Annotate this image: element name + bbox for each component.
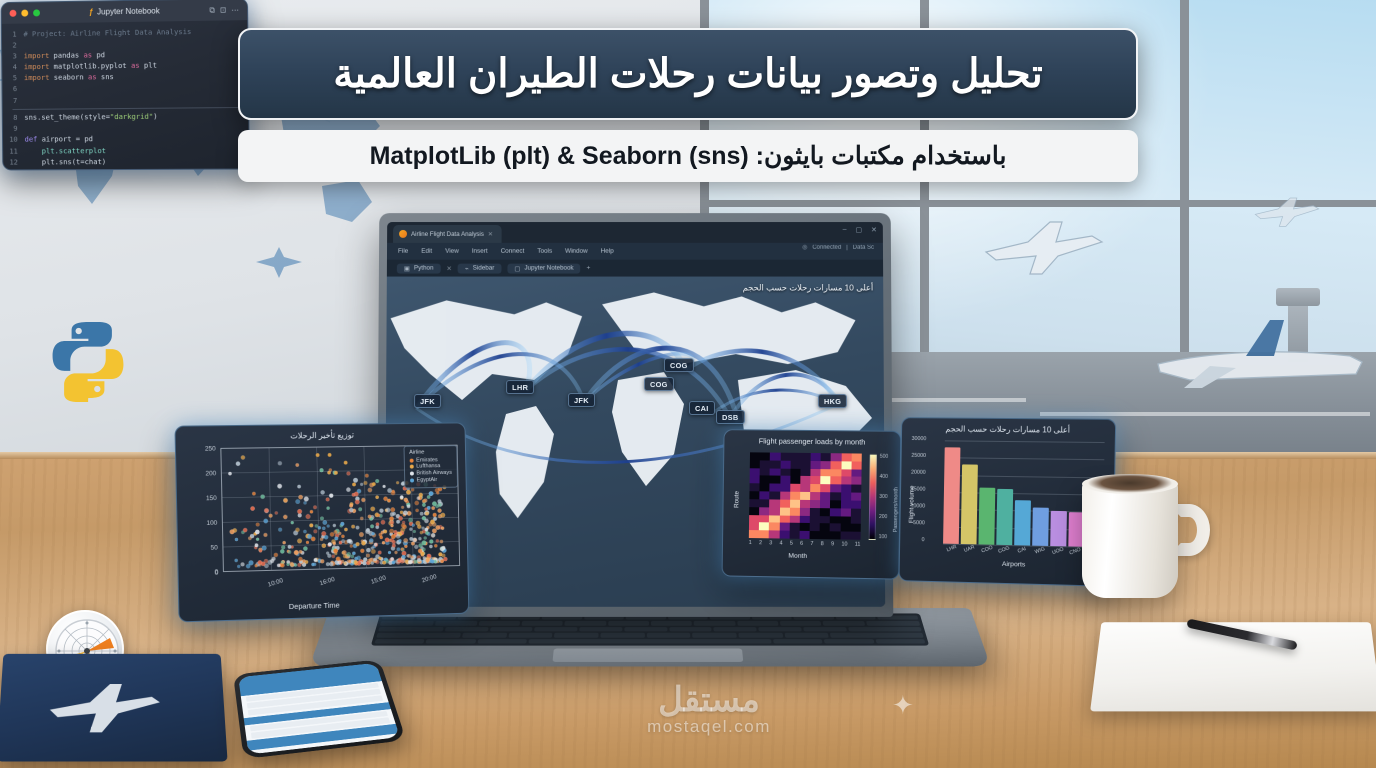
blue-notebook xyxy=(0,654,228,762)
heatmap-cell xyxy=(780,492,790,500)
close-tab-icon[interactable]: ✕ xyxy=(446,264,451,272)
heatmap-cell xyxy=(830,500,840,508)
heatmap-xtick: 8 xyxy=(821,541,824,547)
heatmap-cell xyxy=(800,500,810,508)
svg-text:50: 50 xyxy=(211,544,219,551)
bar-ytick: 20000 xyxy=(911,470,926,476)
heatmap-cell xyxy=(831,477,841,485)
jupyter-icon: ƒ xyxy=(89,8,94,17)
heatmap-cell xyxy=(790,492,800,500)
heatmap-cell xyxy=(760,452,770,460)
heatmap-cell xyxy=(800,523,810,531)
airport-chip-cai[interactable]: CAI xyxy=(689,401,715,415)
menu-connect[interactable]: Connect xyxy=(501,248,525,255)
heatmap-cell xyxy=(750,460,760,468)
heatmap-cell xyxy=(830,531,840,539)
legend-label: Lufthansa xyxy=(416,463,440,469)
legend-label: Emirates xyxy=(416,457,438,463)
svg-text:20:00: 20:00 xyxy=(421,573,438,584)
legend-color-swatch xyxy=(409,465,413,469)
heatmap-cell xyxy=(780,460,790,468)
heatmap-xtick: 7 xyxy=(810,541,813,547)
bar-xtick: UOO xyxy=(1048,545,1067,557)
heatmap-cell xyxy=(750,468,760,476)
map-title: أعلى 10 مسارات رحلات حسب الحجم xyxy=(743,283,874,293)
laptop-keyboard[interactable] xyxy=(371,613,929,645)
airport-chip-jfk[interactable]: JFK xyxy=(414,394,441,408)
code-cell-divider xyxy=(12,107,237,110)
svg-text:250: 250 xyxy=(205,446,216,453)
legend-item[interactable]: EgyptAir xyxy=(410,477,452,484)
heatmap-cell xyxy=(820,523,830,531)
heatmap-cell xyxy=(750,476,760,484)
heatmap-cell xyxy=(779,523,789,531)
heatmap-cell xyxy=(810,531,820,539)
scatter-legend: Airline Emirates Lufthansa British Airwa… xyxy=(403,445,458,488)
colorbar-tick: 400 xyxy=(880,474,888,480)
code-window-title: Jupyter Notebook xyxy=(97,6,160,16)
heatmap-cell xyxy=(851,477,861,485)
heatmap-cell xyxy=(750,452,760,460)
bar-xtick: COO xyxy=(977,544,996,556)
heatmap-cell xyxy=(770,460,780,468)
bar-chart-title: أعلى 10 مسارات رحلات حسب الحجم xyxy=(902,418,1115,435)
key-row xyxy=(378,627,922,631)
heatmap-cell xyxy=(759,491,769,499)
menu-tools[interactable]: Tools xyxy=(537,248,552,255)
heatmap-cell xyxy=(800,461,810,469)
heatmap-colorbar xyxy=(869,454,877,540)
heatmap-cell xyxy=(770,484,780,492)
heatmap-xtick: 11 xyxy=(855,542,861,548)
heatmap-cell xyxy=(760,476,770,484)
code-line-number: 7 xyxy=(3,95,25,106)
code-window-title-wrap: ƒ Jupyter Notebook xyxy=(45,6,205,18)
heatmap-cell xyxy=(790,468,800,476)
svg-text:100: 100 xyxy=(206,520,217,527)
heatmap-cell xyxy=(821,453,831,461)
laptop-trackpad[interactable] xyxy=(552,649,743,662)
subtitle-text: باستخدام مكتبات بايثون: MatplotLib (plt)… xyxy=(370,141,1007,171)
bar-series xyxy=(943,440,1105,547)
heatmap-cell xyxy=(841,485,851,493)
close-traffic-light-icon[interactable] xyxy=(10,10,17,17)
heatmap-xtick: 6 xyxy=(800,541,803,547)
code-line-number: 3 xyxy=(2,51,24,62)
heatmap-cell xyxy=(810,523,820,531)
heatmap-xlabel: Month xyxy=(788,553,807,560)
bar xyxy=(979,488,995,545)
svg-text:15:00: 15:00 xyxy=(370,574,387,585)
heatmap-cell xyxy=(770,476,780,484)
colorbar-tick: 500 xyxy=(880,454,888,460)
notebook-icon: ▢ xyxy=(514,264,520,272)
heatmap-cell xyxy=(841,469,851,477)
heatmap-cell xyxy=(840,508,850,516)
copy-icon[interactable]: ⧉ xyxy=(209,5,215,15)
bar-ylabel: Flight volume xyxy=(908,485,915,523)
maximize-button[interactable]: ▢ xyxy=(855,226,862,234)
runway-stripe xyxy=(1040,412,1370,416)
tab-close-icon[interactable]: ✕ xyxy=(488,230,493,237)
code-line-number: 9 xyxy=(3,123,25,134)
svg-text:10:00: 10:00 xyxy=(267,577,284,589)
heatmap-cell xyxy=(830,516,840,524)
heatmap-cell xyxy=(769,499,779,507)
heatmap-cell xyxy=(851,493,861,501)
heatmap-cell xyxy=(769,515,779,523)
heatmap-cell xyxy=(759,515,769,523)
heatmap-cell xyxy=(789,531,799,539)
heatmap-cell xyxy=(821,477,831,485)
heatmap-xtick: 9 xyxy=(831,541,834,547)
heatmap-xticks: 1234567891011 xyxy=(749,540,861,548)
heatmap-cell xyxy=(840,532,850,540)
bar-xtick: UAR xyxy=(960,543,978,555)
code-line-number: 5 xyxy=(2,73,24,84)
bar-xticks: LHRUARCOOCOGCAIWIGUOOCNOIRO xyxy=(943,546,1103,556)
code-line-text: # Project: Airline Flight Data Analysis xyxy=(23,26,191,40)
status-indicator-icon: ◎ xyxy=(802,244,807,251)
browser-tabbar: Airline Flight Data Analysis ✕ – ▢ ✕ xyxy=(387,222,883,243)
heatmap-cell xyxy=(749,507,759,515)
heatmap-xtick: 4 xyxy=(779,540,782,546)
heatmap-cell xyxy=(800,484,810,492)
browser-chrome: Airline Flight Data Analysis ✕ – ▢ ✕ Fil… xyxy=(387,222,883,277)
heatmap-cell xyxy=(841,453,851,461)
heatmap-xtick: 2 xyxy=(759,540,762,546)
toolbar-chip-label: Python xyxy=(414,265,434,272)
bar-xtick: WIG xyxy=(1030,545,1049,557)
bar xyxy=(996,489,1012,546)
heatmap-cell xyxy=(810,469,820,477)
colorbar-tick: 100 xyxy=(879,534,887,540)
heatmap-cell xyxy=(801,453,811,461)
add-tab-icon[interactable]: + xyxy=(587,265,591,272)
menu-window[interactable]: Window xyxy=(565,248,588,255)
heatmap-chart-title: Flight passenger loads by month xyxy=(724,430,900,447)
heatmap-cell xyxy=(830,524,840,532)
bar-xtick: LHR xyxy=(942,543,960,555)
heatmap-cell xyxy=(851,453,861,461)
airport-chip-cog[interactable]: COG xyxy=(664,358,694,372)
heatmap-cells xyxy=(749,452,862,539)
key-row xyxy=(380,621,920,625)
heatmap-cell xyxy=(841,492,851,500)
airplane-flying-icon xyxy=(1252,192,1322,228)
heatmap-cell xyxy=(840,524,850,532)
browser-toolbar: ▣ Python ✕ ⌁ Sidebar ▢ Jupyter Notebook … xyxy=(387,260,883,277)
heatmap-cell xyxy=(779,531,789,539)
heatmap-cell xyxy=(831,485,841,493)
menu-insert[interactable]: Insert xyxy=(472,248,488,255)
heatmap-cell xyxy=(800,508,810,516)
heatmap-cell xyxy=(840,516,850,524)
heatmap-cell xyxy=(841,500,851,508)
airport-chip-cog2[interactable]: COG xyxy=(644,377,674,391)
subtitle-banner: باستخدام مكتبات بايثون: MatplotLib (plt)… xyxy=(238,130,1138,182)
bar-ytick: 25000 xyxy=(911,453,926,459)
python-file-icon: ▣ xyxy=(404,264,410,272)
legend-title: Airline xyxy=(409,449,451,456)
heatmap-cell xyxy=(841,477,851,485)
svg-text:0: 0 xyxy=(215,570,219,577)
heatmap-cell xyxy=(749,491,759,499)
heatmap-cell xyxy=(851,485,861,493)
heatmap-cell xyxy=(749,522,759,530)
code-window-tools: ⧉ ⊡ ⋯ xyxy=(209,5,239,16)
heatmap-cell xyxy=(821,461,831,469)
heatmap-cell xyxy=(820,484,830,492)
code-line-text: plt.scatterplot xyxy=(25,145,106,156)
code-editor-body[interactable]: 1# Project: Airline Flight Data Analysis… xyxy=(2,20,249,170)
scene-root: Airline Flight Data Analysis ✕ – ▢ ✕ Fil… xyxy=(0,0,1376,768)
heatmap-cell xyxy=(749,483,759,491)
code-line-number: 1 xyxy=(2,29,24,40)
heatmap-cell xyxy=(780,468,790,476)
heatmap-cell xyxy=(851,461,861,469)
heatmap-cell xyxy=(830,508,840,516)
heatmap-cell xyxy=(850,524,860,532)
colorbar-tick: 200 xyxy=(879,514,887,520)
parked-airplane-icon xyxy=(1150,300,1370,396)
heatmap-xtick: 5 xyxy=(790,541,793,547)
legend-color-swatch xyxy=(410,472,414,476)
code-line-number: 6 xyxy=(2,84,24,95)
code-line-text: import matplotlib.pyplot as plt xyxy=(24,60,157,73)
coffee-mug xyxy=(1082,480,1178,598)
bar xyxy=(1014,500,1030,546)
airport-chip-lhr[interactable]: LHR xyxy=(506,380,534,394)
code-line-text: plt xyxy=(25,167,46,170)
code-line-number: 10 xyxy=(3,134,25,145)
legend-item[interactable]: Lufthansa xyxy=(409,463,451,470)
layout-icon[interactable]: ⊡ xyxy=(220,5,226,15)
airport-chip-jfk2[interactable]: JFK xyxy=(568,393,595,407)
heatmap-cell xyxy=(820,508,830,516)
heatmap-cell xyxy=(769,531,779,539)
bar-xtick: COG xyxy=(995,544,1014,556)
code-line-number: 4 xyxy=(2,62,24,73)
key-row xyxy=(375,639,926,644)
browser-tab-title: Airline Flight Data Analysis xyxy=(411,230,484,237)
heatmap-cell xyxy=(779,515,789,523)
heatmap-cell xyxy=(810,484,820,492)
code-line-text: plt.sns(t=chat) xyxy=(25,156,106,167)
heatmap-cell xyxy=(820,531,830,539)
close-button[interactable]: ✕ xyxy=(871,226,877,234)
heatmap-cell xyxy=(790,515,800,523)
toolbar-chip-sidebar[interactable]: ⌁ Sidebar xyxy=(458,263,502,273)
menu-file[interactable]: File xyxy=(398,248,408,255)
legend-label: EgyptAir xyxy=(417,477,438,483)
key-row xyxy=(376,633,923,638)
heatmap-cell xyxy=(759,523,769,531)
heatmap-cell xyxy=(831,469,841,477)
heatmap-cell xyxy=(800,476,810,484)
heatmap-cell xyxy=(851,469,861,477)
heatmap-cell xyxy=(831,453,841,461)
heatmap-cell xyxy=(759,499,769,507)
code-line-text: import seaborn as sns xyxy=(24,71,114,83)
code-line-text: def airport = pd xyxy=(25,134,93,145)
heatmap-cell xyxy=(780,499,790,507)
heatmap-cell xyxy=(780,484,790,492)
heatmap-cell xyxy=(821,469,831,477)
connection-status: ◎ Connected | Data Sc xyxy=(802,244,874,251)
menu-help[interactable]: Help xyxy=(601,248,614,255)
favicon-icon xyxy=(399,230,407,238)
colorbar-ticks: 500400300200100 xyxy=(879,454,889,540)
heatmap-cell xyxy=(831,492,841,500)
heatmap-cell xyxy=(810,500,820,508)
bar xyxy=(1032,507,1048,546)
airplane-emblem-icon xyxy=(43,673,165,738)
legend-item[interactable]: British Airways xyxy=(410,470,452,477)
coffee-mug-rim xyxy=(1082,474,1178,494)
heatmap-cell xyxy=(820,516,830,524)
python-icon xyxy=(46,318,130,402)
toolbar-chip-python[interactable]: ▣ Python xyxy=(397,263,441,273)
heatmap-ylabel: Route xyxy=(733,491,740,508)
heatmap-cell xyxy=(780,453,790,461)
heatmap-cell xyxy=(851,500,861,508)
passenger-load-heatmap-panel[interactable]: Flight passenger loads by month 12345678… xyxy=(722,429,902,579)
heatmap-cell xyxy=(810,516,820,524)
heatmap-cell xyxy=(749,515,759,523)
legend-label: British Airways xyxy=(416,470,452,477)
heatmap-cell xyxy=(799,531,809,539)
heatmap-cell xyxy=(790,484,800,492)
svg-text:200: 200 xyxy=(205,470,216,477)
status-divider: | xyxy=(846,244,848,250)
heatmap-cell xyxy=(770,492,780,500)
colorbar-tick: 300 xyxy=(879,494,887,500)
status-kernel-label: Data Sc xyxy=(853,244,874,250)
svg-text:16:00: 16:00 xyxy=(319,576,336,587)
bar-xtick: CAI xyxy=(1013,544,1032,556)
heatmap-cell xyxy=(850,532,860,540)
heatmap-cell xyxy=(800,515,810,523)
heatmap-cell xyxy=(810,476,820,484)
heatmap-cell xyxy=(769,507,779,515)
heatmap-cell xyxy=(790,461,800,469)
scatter-xlabel: Departure Time xyxy=(289,601,340,611)
heatmap-cell xyxy=(789,523,799,531)
heatmap-cell xyxy=(790,476,800,484)
browser-tab-active[interactable]: Airline Flight Data Analysis ✕ xyxy=(393,225,502,243)
heatmap-xtick: 3 xyxy=(769,540,772,546)
heatmap-cell xyxy=(760,484,770,492)
code-line-text: sns.set_theme(style="darkgrid") xyxy=(24,111,157,123)
code-line: 7 xyxy=(3,92,249,105)
heatmap-xtick: 10 xyxy=(841,541,847,547)
heatmap-cell xyxy=(811,461,821,469)
python-logo-badge xyxy=(46,318,130,407)
heatmap-cell xyxy=(759,507,769,515)
heatmap-cell xyxy=(820,492,830,500)
airport-chip-hkg[interactable]: HKG xyxy=(818,394,847,408)
bar xyxy=(961,465,978,545)
heatmap-cell xyxy=(810,508,820,516)
heatmap-cell xyxy=(760,468,770,476)
flight-delay-scatter-panel[interactable]: توزيع تأخير الرحلات 05010015020025010:00… xyxy=(174,422,469,622)
menu-edit[interactable]: Edit xyxy=(421,248,432,255)
heatmap-cell xyxy=(790,507,800,515)
toolbar-chip-jupyter[interactable]: ▢ Jupyter Notebook xyxy=(507,263,580,273)
legend-color-swatch xyxy=(409,458,413,462)
legend-color-swatch xyxy=(410,478,414,482)
bar-xlabel: Airports xyxy=(1002,561,1025,569)
sidebar-icon: ⌁ xyxy=(465,264,469,272)
heatmap-cell xyxy=(811,453,821,461)
heatmap-cell xyxy=(851,508,861,516)
main-title-banner: تحليل وتصور بيانات رحلات الطيران العالمي… xyxy=(238,28,1138,120)
toolbar-chip-label: Jupyter Notebook xyxy=(524,265,573,272)
menu-view[interactable]: View xyxy=(445,248,459,255)
minimize-traffic-light-icon[interactable] xyxy=(21,10,28,17)
bar xyxy=(1051,511,1067,547)
bar-ytick: 30000 xyxy=(912,436,927,442)
code-line-number: 11 xyxy=(3,145,25,156)
heatmap-cell xyxy=(749,530,759,538)
heatmap-cell xyxy=(759,530,769,538)
jupyter-notebook-window[interactable]: ƒ Jupyter Notebook ⧉ ⊡ ⋯ 1# Project: Air… xyxy=(1,0,250,170)
heatmap-cell xyxy=(800,468,810,476)
heatmap-cell xyxy=(760,460,770,468)
heatmap-cell xyxy=(749,499,759,507)
legend-item[interactable]: Emirates xyxy=(409,457,451,464)
heatmap-xtick: 1 xyxy=(749,540,752,546)
heatmap-cell xyxy=(800,492,810,500)
status-connected-label: Connected xyxy=(812,244,841,250)
code-line-number: 12 xyxy=(3,156,25,167)
maximize-traffic-light-icon[interactable] xyxy=(33,9,40,16)
code-line-number: 8 xyxy=(3,112,25,123)
heatmap-cell xyxy=(770,468,780,476)
heatmap-cell xyxy=(779,507,789,515)
heatmap-cell xyxy=(820,500,830,508)
heatmap-cell xyxy=(790,500,800,508)
phone-screen[interactable] xyxy=(238,663,400,755)
window-controls: – ▢ ✕ xyxy=(843,226,877,234)
more-options-icon[interactable]: ⋯ xyxy=(231,5,239,15)
airplane-flying-icon xyxy=(980,212,1108,276)
heatmap-cell xyxy=(831,461,841,469)
heatmap-cell xyxy=(769,523,779,531)
main-title-text: تحليل وتصور بيانات رحلات الطيران العالمي… xyxy=(333,51,1043,97)
heatmap-cell xyxy=(841,461,851,469)
airport-chip-dsb[interactable]: DSB xyxy=(716,410,745,424)
minimize-button[interactable]: – xyxy=(843,226,847,234)
heatmap-cell xyxy=(851,516,861,524)
heatmap-cell xyxy=(790,453,800,461)
toolbar-chip-label: Sidebar xyxy=(473,265,495,272)
svg-text:150: 150 xyxy=(206,495,217,502)
bar xyxy=(943,447,960,544)
heatmap-cell xyxy=(780,476,790,484)
code-line-number: 2 xyxy=(2,40,24,51)
bar-ytick: 0 xyxy=(910,537,925,543)
heatmap-cell xyxy=(810,492,820,500)
heatmap-cell xyxy=(770,453,780,461)
sparkle-icon: ✦ xyxy=(892,690,914,721)
